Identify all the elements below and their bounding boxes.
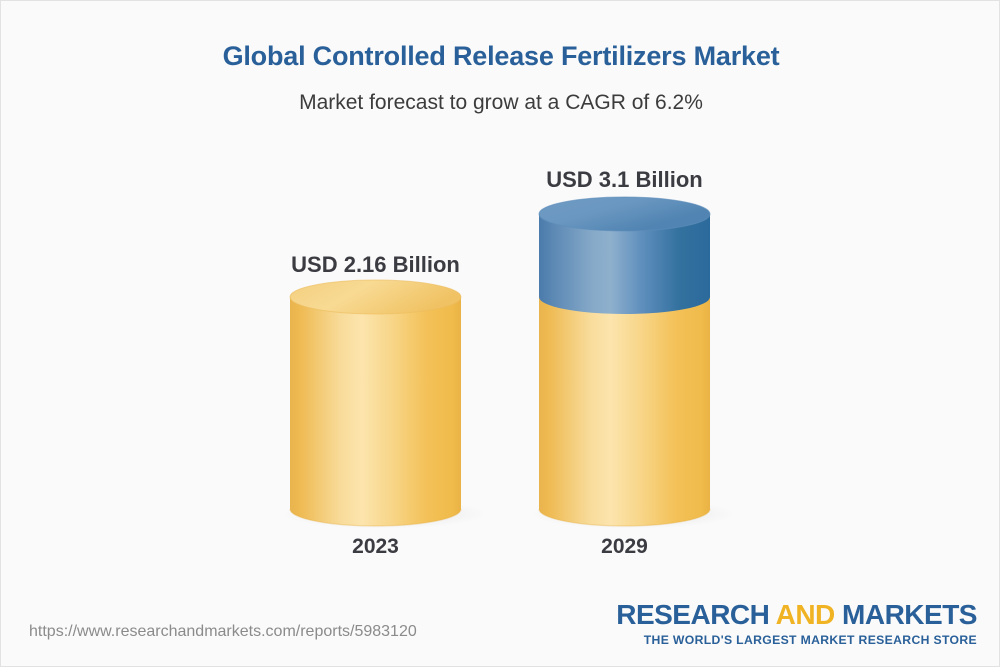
logo-wordmark: RESEARCH AND MARKETS <box>616 601 977 629</box>
logo-word-and: AND <box>776 599 835 630</box>
category-label-2029: 2029 <box>524 535 725 559</box>
logo-word-markets: MARKETS <box>835 599 977 630</box>
cylinder-bar-chart <box>1 1 1000 668</box>
cylinder-2029[interactable] <box>530 197 736 529</box>
cylinder-2023[interactable] <box>281 280 487 529</box>
data-label-2029: USD 3.1 Billion <box>524 167 725 193</box>
report-url[interactable]: https://www.researchandmarkets.com/repor… <box>29 623 417 641</box>
data-label-2023: USD 2.16 Billion <box>275 252 476 278</box>
logo-word-research: RESEARCH <box>616 599 775 630</box>
cylinder-2023-body <box>290 297 461 526</box>
category-label-2023: 2023 <box>275 535 476 559</box>
chart-canvas: Global Controlled Release Fertilizers Ma… <box>0 0 1000 667</box>
research-and-markets-logo[interactable]: RESEARCH AND MARKETS THE WORLD'S LARGEST… <box>616 601 977 646</box>
logo-tagline: THE WORLD'S LARGEST MARKET RESEARCH STOR… <box>616 634 977 646</box>
cylinder-2029-base-segment <box>539 297 710 526</box>
